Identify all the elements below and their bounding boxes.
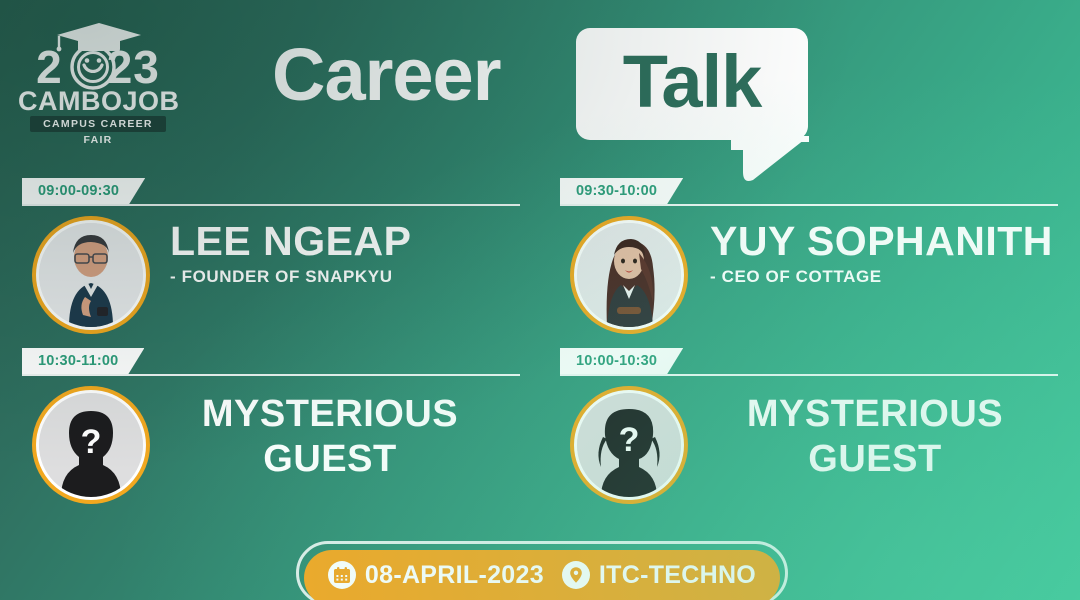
time-badge: 09:00-09:30 xyxy=(22,178,145,204)
avatar: ? xyxy=(32,386,150,504)
time-badge: 10:00-10:30 xyxy=(560,348,683,374)
footer-venue-label: ITC-TECHNO xyxy=(599,561,756,590)
logo-wordmark: CAMBOJOB xyxy=(18,88,178,115)
speaker-row-bottom-left: 10:30-11:00 ? MYSTERIOUS GUEST xyxy=(22,348,522,518)
avatar: ? xyxy=(570,386,688,504)
speaker-row-top-right: 09:30-10:00 xyxy=(560,178,1060,348)
avatar-ring-inner: ? xyxy=(36,390,146,500)
time-rule xyxy=(560,204,1058,206)
footer-venue-item: ITC-TECHNO xyxy=(562,561,756,590)
svg-text:?: ? xyxy=(81,423,102,461)
avatar xyxy=(32,216,150,334)
avatar-ring-inner xyxy=(36,220,146,330)
headline-career: Career xyxy=(272,38,501,112)
speaker-name: LEE NGEAP xyxy=(170,218,522,264)
footer-date-item: 08-APRIL-2023 xyxy=(328,561,544,590)
headline-talk: Talk xyxy=(576,28,808,140)
talk-speech-bubble: Talk xyxy=(576,28,808,140)
avatar-photo-man xyxy=(39,223,143,327)
speaker-row-bottom-right: 10:00-10:30 ? MYSTERIOUS GUEST xyxy=(560,348,1060,518)
speaker-row-top-left: 09:00-09:30 xyxy=(22,178,522,348)
footer-info-bar: 08-APRIL-2023 ITC-TECHNO xyxy=(304,550,780,600)
avatar xyxy=(570,216,688,334)
svg-text:?: ? xyxy=(619,421,640,459)
smiley-target-icon xyxy=(70,44,116,90)
career-talk-poster: 223 CAMBOJOB CAMPUS CAREER FAIR Career T… xyxy=(0,0,1080,600)
time-badge: 09:30-10:00 xyxy=(560,178,683,204)
footer-date-label: 08-APRIL-2023 xyxy=(365,561,544,590)
location-pin-icon xyxy=(562,561,590,589)
speaker-name: YUY SOPHANITH xyxy=(710,218,1070,264)
avatar-silhouette-man-question: ? xyxy=(39,393,143,497)
logo-tagline: CAMPUS CAREER FAIR xyxy=(30,116,166,132)
speaker-role: - FOUNDER OF SNAPKYU xyxy=(170,266,522,288)
speaker-info: MYSTERIOUS GUEST xyxy=(170,392,522,482)
speaker-name: MYSTERIOUS GUEST xyxy=(170,392,490,482)
time-rule xyxy=(22,374,520,376)
time-rule xyxy=(560,374,1058,376)
speaker-name: MYSTERIOUS GUEST xyxy=(710,392,1040,482)
avatar-ring-inner: ? xyxy=(574,390,684,500)
time-rule xyxy=(22,204,520,206)
cambojob-logo: 223 CAMBOJOB CAMPUS CAREER FAIR xyxy=(18,22,178,134)
speaker-role: - CEO OF COTTAGE xyxy=(710,266,1070,288)
calendar-icon xyxy=(328,561,356,589)
speaker-info: MYSTERIOUS GUEST xyxy=(710,392,1070,482)
avatar-silhouette-woman-question: ? xyxy=(577,393,681,497)
time-badge: 10:30-11:00 xyxy=(22,348,144,374)
avatar-photo-woman xyxy=(577,223,681,327)
speech-bubble-tail-icon xyxy=(731,136,811,182)
speaker-info: LEE NGEAP - FOUNDER OF SNAPKYU xyxy=(170,218,522,288)
avatar-ring-inner xyxy=(574,220,684,330)
speaker-info: YUY SOPHANITH - CEO OF COTTAGE xyxy=(710,218,1070,288)
